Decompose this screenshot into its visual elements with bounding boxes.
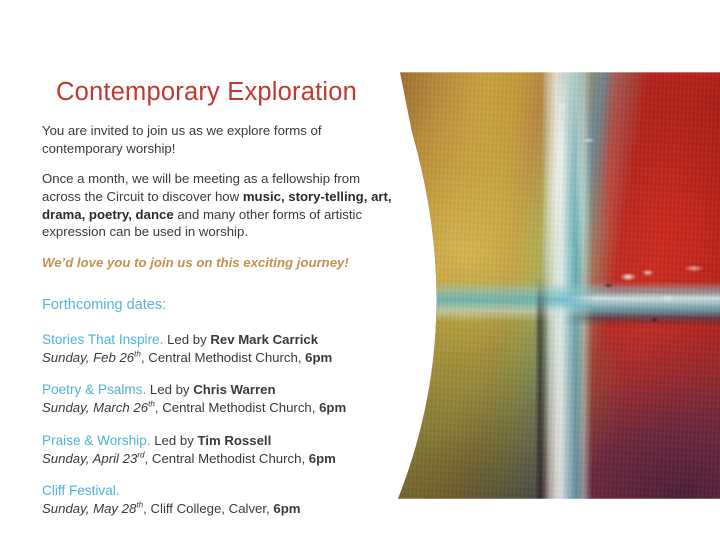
event-day: Sunday, xyxy=(42,350,93,365)
event-day: Sunday, xyxy=(42,451,93,466)
event-details: Sunday, May 28th, Cliff College, Calver,… xyxy=(42,501,410,517)
event-led-by-label: Led by xyxy=(151,433,198,448)
event-day: Sunday, xyxy=(42,501,93,516)
event-venue: , Cliff College, Calver, xyxy=(143,501,273,516)
forthcoming-dates-heading: Forthcoming dates: xyxy=(42,297,410,313)
event-headline: Cliff Festival. xyxy=(42,482,410,500)
event-headline: Praise & Worship. Led by Tim Rossell xyxy=(42,432,410,450)
list-item: Praise & Worship. Led by Tim Rossell Sun… xyxy=(42,432,410,467)
event-time: 6pm xyxy=(309,451,336,466)
event-date-suffix: rd xyxy=(137,450,144,459)
event-details: Sunday, March 26th, Central Methodist Ch… xyxy=(42,400,410,416)
list-item: Stories That Inspire. Led by Rev Mark Ca… xyxy=(42,331,410,366)
event-name: Cliff Festival. xyxy=(42,483,120,498)
intro-paragraph: You are invited to join us as we explore… xyxy=(42,122,394,157)
abstract-painting-canvas xyxy=(392,72,720,499)
event-day: Sunday, xyxy=(42,400,93,415)
event-date-suffix: th xyxy=(134,350,141,359)
event-led-by-label: Led by xyxy=(163,332,210,347)
event-leader: Rev Mark Carrick xyxy=(210,332,318,347)
slide-canvas: Contemporary Exploration You are invited… xyxy=(0,0,720,540)
event-time: 6pm xyxy=(273,501,300,516)
body-paragraph: Once a month, we will be meeting as a fe… xyxy=(42,170,394,241)
event-details: Sunday, Feb 26th, Central Methodist Chur… xyxy=(42,350,410,366)
event-venue: , Central Methodist Church, xyxy=(155,400,319,415)
event-date-suffix: th xyxy=(148,400,155,409)
event-time: 6pm xyxy=(305,350,332,365)
painting-edge xyxy=(392,72,720,499)
page-title: Contemporary Exploration xyxy=(56,78,410,106)
event-date: May 28 xyxy=(93,501,136,516)
event-led-by-label: Led by xyxy=(146,382,193,397)
event-headline: Poetry & Psalms. Led by Chris Warren xyxy=(42,381,410,399)
event-name: Poetry & Psalms. xyxy=(42,382,146,397)
event-name: Stories That Inspire. xyxy=(42,332,163,347)
abstract-painting-image xyxy=(392,72,720,499)
event-date: March 26 xyxy=(93,400,148,415)
event-venue: , Central Methodist Church, xyxy=(145,451,309,466)
event-details: Sunday, April 23rd, Central Methodist Ch… xyxy=(42,451,410,467)
list-item: Poetry & Psalms. Led by Chris Warren Sun… xyxy=(42,381,410,416)
tagline-text: We’d love you to join us on this excitin… xyxy=(42,254,410,271)
event-time: 6pm xyxy=(319,400,346,415)
event-leader: Chris Warren xyxy=(193,382,275,397)
event-leader: Tim Rossell xyxy=(197,433,271,448)
event-name: Praise & Worship. xyxy=(42,433,151,448)
event-date: April 23 xyxy=(93,451,138,466)
event-headline: Stories That Inspire. Led by Rev Mark Ca… xyxy=(42,331,410,349)
event-venue: , Central Methodist Church, xyxy=(141,350,305,365)
event-date: Feb 26 xyxy=(93,350,134,365)
text-column: Contemporary Exploration You are invited… xyxy=(42,78,410,532)
list-item: Cliff Festival. Sunday, May 28th, Cliff … xyxy=(42,482,410,517)
